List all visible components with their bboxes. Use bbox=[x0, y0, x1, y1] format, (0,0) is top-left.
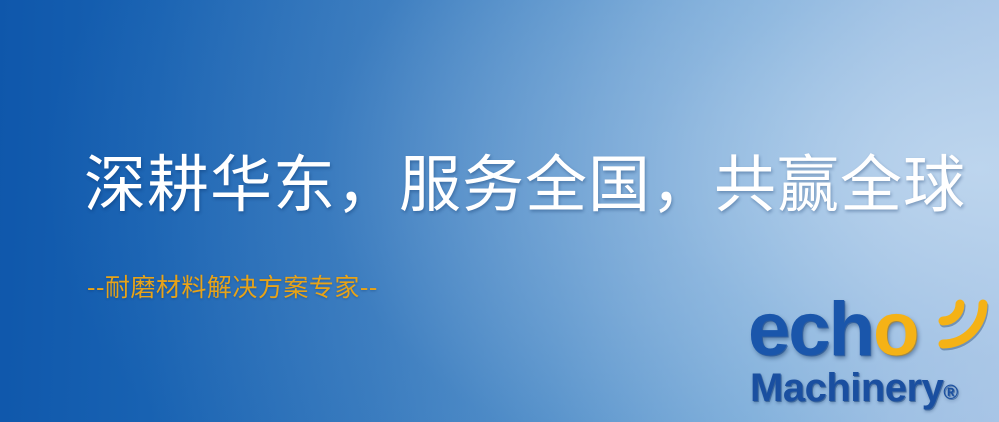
signal-waves-icon bbox=[929, 288, 999, 360]
banner-headline: 深耕华东，服务全国，共赢全球 bbox=[84, 152, 966, 217]
logo-echo-text: ech bbox=[748, 287, 873, 372]
logo-echo-o-letter: o bbox=[873, 287, 917, 372]
logo-wordmark: echo bbox=[748, 292, 917, 368]
company-logo[interactable]: echo Machinery® bbox=[748, 292, 999, 420]
registered-trademark-icon: ® bbox=[943, 382, 958, 404]
logo-machinery-text: Machinery® bbox=[750, 366, 958, 411]
hero-banner: 深耕华东，服务全国，共赢全球 --耐磨材料解决方案专家-- echo Machi… bbox=[0, 0, 999, 422]
banner-subtitle: --耐磨材料解决方案专家-- bbox=[87, 268, 378, 304]
logo-machinery-label: Machinery bbox=[750, 366, 943, 410]
